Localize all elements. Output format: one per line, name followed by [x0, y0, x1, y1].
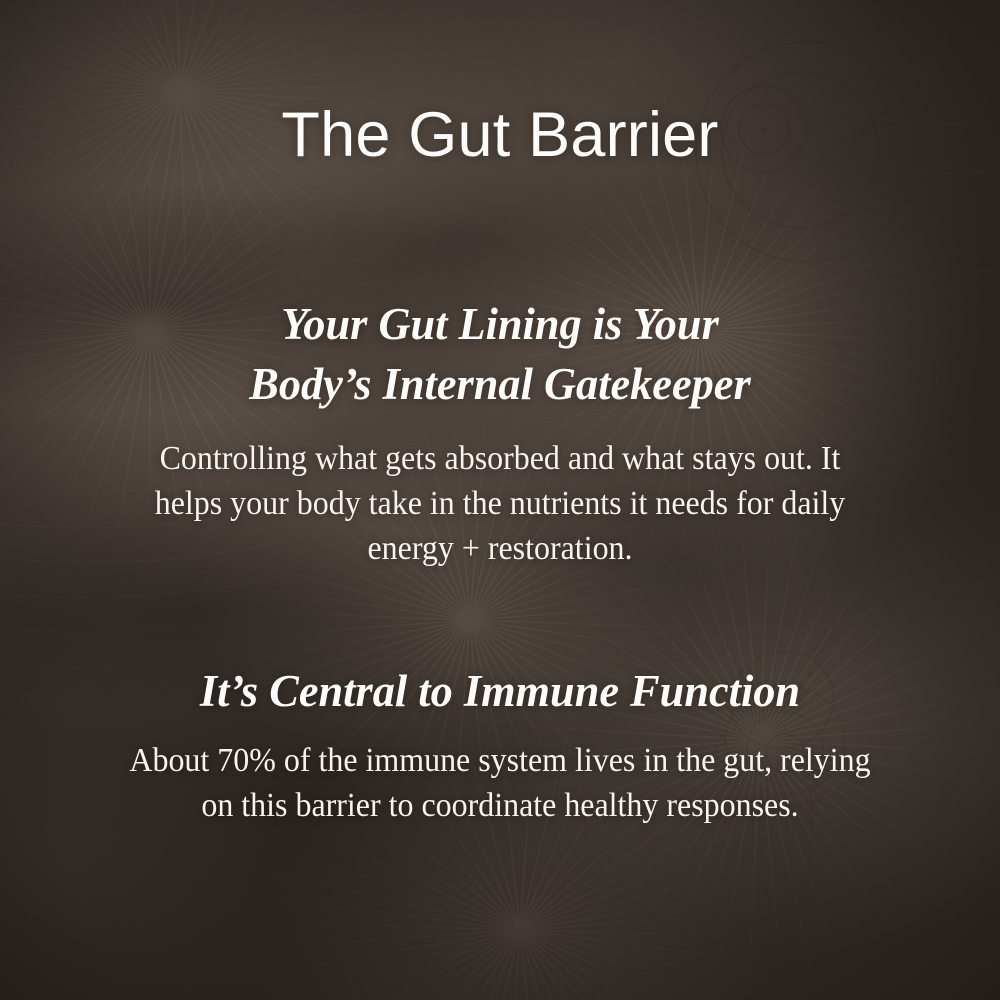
- section-gut-lining: Your Gut Lining is Your Body’s Internal …: [0, 294, 1000, 571]
- section-immune-function-body: About 70% of the immune system lives in …: [30, 738, 970, 828]
- body-line: Controlling what gets absorbed and what …: [85, 436, 916, 481]
- section-immune-function-heading: It’s Central to Immune Function: [8, 664, 993, 718]
- gut-barrier-slide: The Gut Barrier Your Gut Lining is Your …: [0, 0, 1000, 1000]
- heading-line: Your Gut Lining is Your: [8, 294, 993, 354]
- heading-line: It’s Central to Immune Function: [8, 664, 993, 718]
- body-line: helps your body take in the nutrients it…: [85, 481, 916, 526]
- section-immune-function: It’s Central to Immune Function About 70…: [0, 664, 1000, 828]
- heading-line: Body’s Internal Gatekeeper: [8, 354, 993, 414]
- body-line: on this barrier to coordinate healthy re…: [62, 783, 938, 828]
- slide-content: The Gut Barrier Your Gut Lining is Your …: [0, 0, 1000, 1000]
- section-gut-lining-heading: Your Gut Lining is Your Body’s Internal …: [8, 294, 993, 414]
- page-title: The Gut Barrier: [0, 104, 1000, 167]
- section-gut-lining-body: Controlling what gets absorbed and what …: [30, 436, 970, 571]
- body-line: About 70% of the immune system lives in …: [62, 738, 938, 783]
- body-line: energy + restoration.: [85, 526, 916, 571]
